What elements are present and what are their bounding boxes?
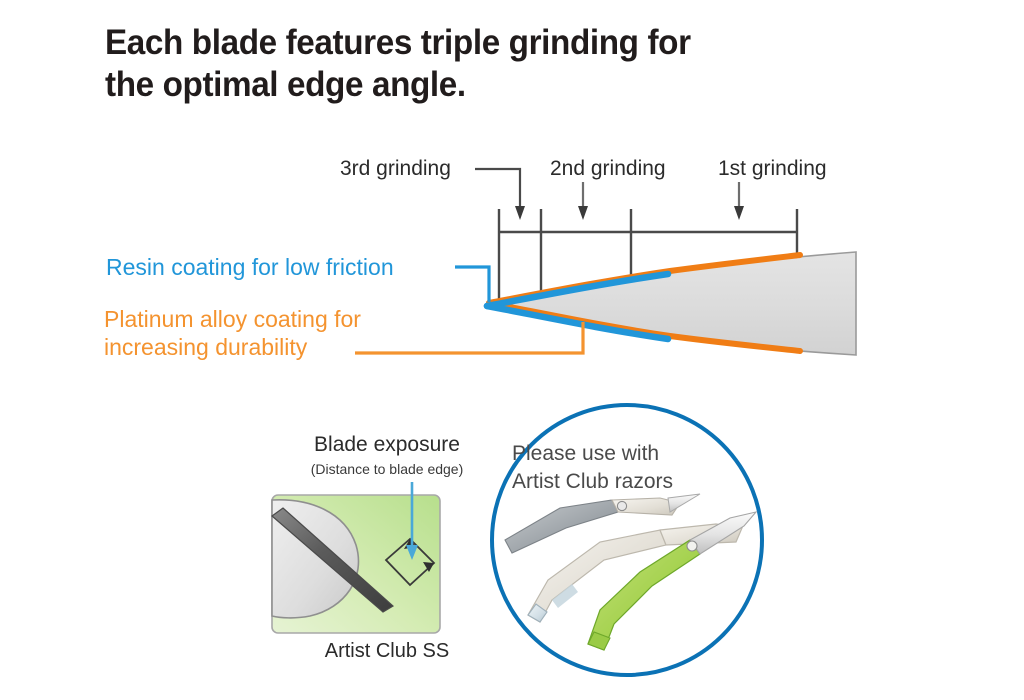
leader-platinum-coating [355,322,583,353]
leader-3rd-grinding [475,169,520,208]
blade-cross-section [487,252,856,355]
infographic-canvas: Each blade features triple grinding for … [0,0,1024,700]
leader-resin-coating [455,267,489,302]
arrowhead-3rd-grinding [515,206,525,220]
razor-circle-text: Please use with Artist Club razors [512,440,742,497]
blade-exposure-title: Blade exposure [277,433,497,457]
blade-exposure-caption: Artist Club SS [262,640,512,663]
blade-exposure-subtitle: (Distance to blade edge) [262,461,512,477]
arrowhead-2nd-grinding [578,206,588,220]
arrowhead-1st-grinding [734,206,744,220]
diagram-graphics [0,0,1024,700]
